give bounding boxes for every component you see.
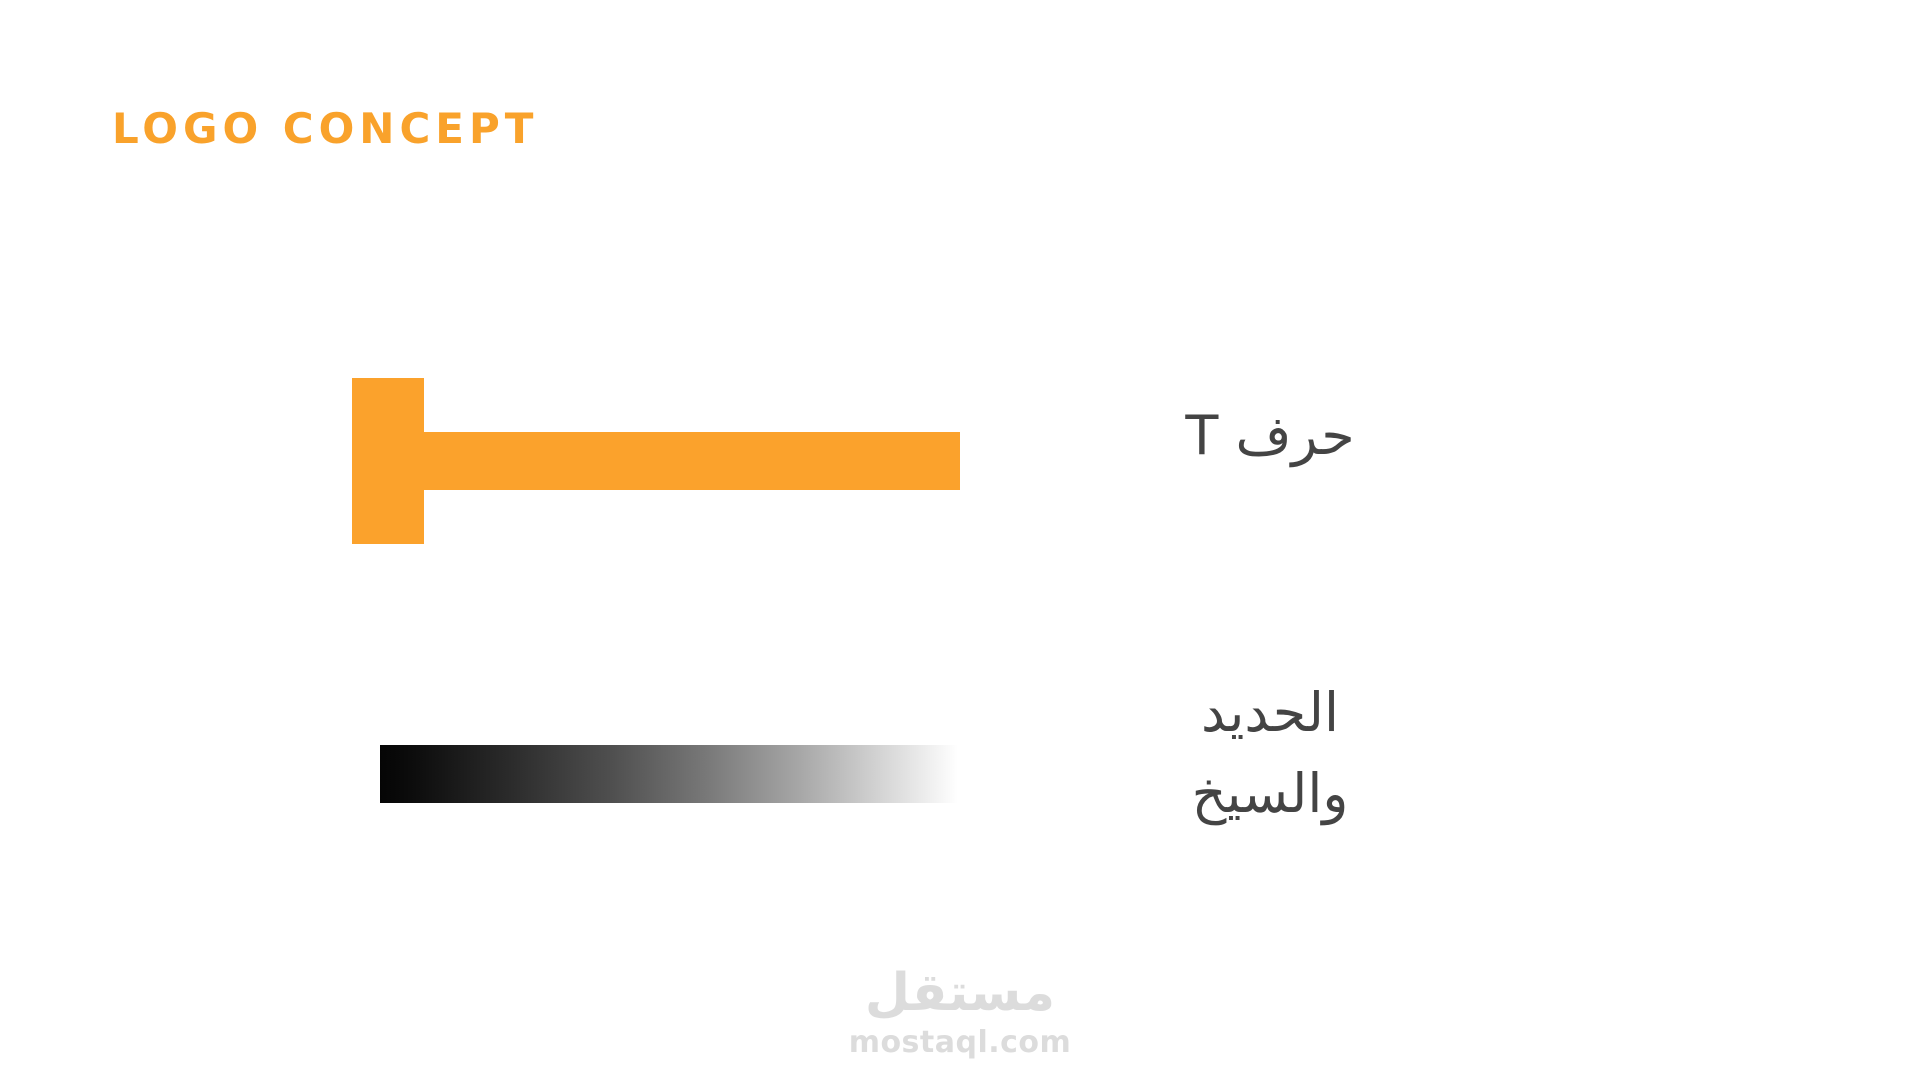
steel-gradient-swatch xyxy=(380,745,958,803)
logo-concept-canvas: LOGO CONCEPT حرف T الحديد والسيخ مستقل m… xyxy=(0,0,1920,1080)
logo-mark xyxy=(352,378,960,544)
watermark: مستقل mostaql.com xyxy=(0,966,1920,1060)
annotation-letter-concept: حرف T xyxy=(1110,402,1430,470)
page-title: LOGO CONCEPT xyxy=(112,108,538,150)
logo-mark-stem xyxy=(352,378,424,544)
annotation-material-concept: الحديد والسيخ xyxy=(1110,672,1430,834)
watermark-logotype: مستقل xyxy=(0,966,1920,1021)
watermark-domain: mostaql.com xyxy=(0,1025,1920,1060)
logo-mark-arm xyxy=(418,432,960,490)
